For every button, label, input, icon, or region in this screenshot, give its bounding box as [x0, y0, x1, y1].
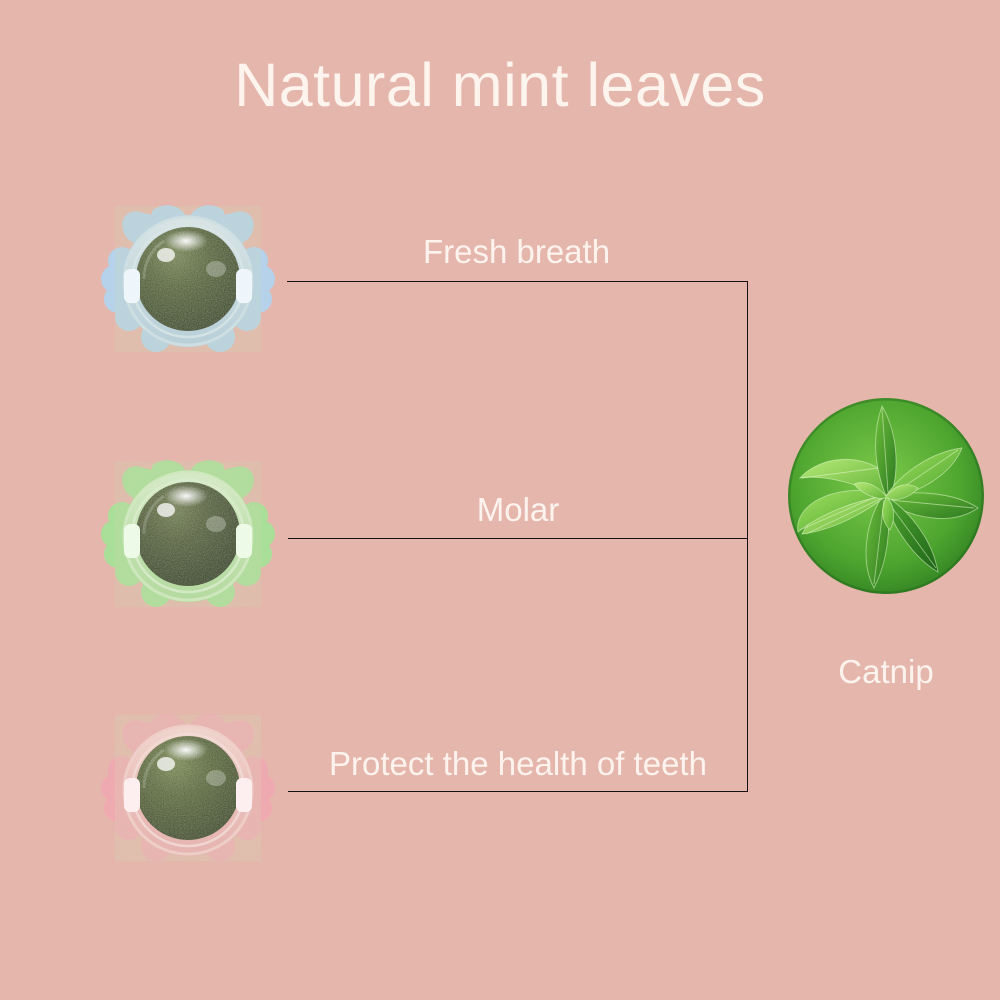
product-image-blue-crab-toy	[88, 177, 288, 377]
product-infographic: Natural mint leaves Fresh breath Molar P…	[0, 0, 1000, 1000]
product-image-pink-crab-toy	[88, 686, 288, 886]
page-title: Natural mint leaves	[0, 52, 1000, 119]
feature-label-protect-teeth: Protect the health of teeth	[288, 747, 748, 780]
feature-label-molar: Molar	[288, 493, 748, 526]
connector-line-top	[287, 281, 748, 282]
product-image-green-crab-toy	[88, 432, 288, 632]
connector-line-vertical	[747, 281, 748, 791]
feature-label-fresh-breath: Fresh breath	[285, 235, 748, 268]
connector-line-bottom	[288, 791, 748, 792]
ingredient-label-catnip: Catnip	[788, 655, 984, 688]
connector-line-middle	[288, 538, 748, 539]
catnip-leaves-icon	[788, 398, 984, 594]
